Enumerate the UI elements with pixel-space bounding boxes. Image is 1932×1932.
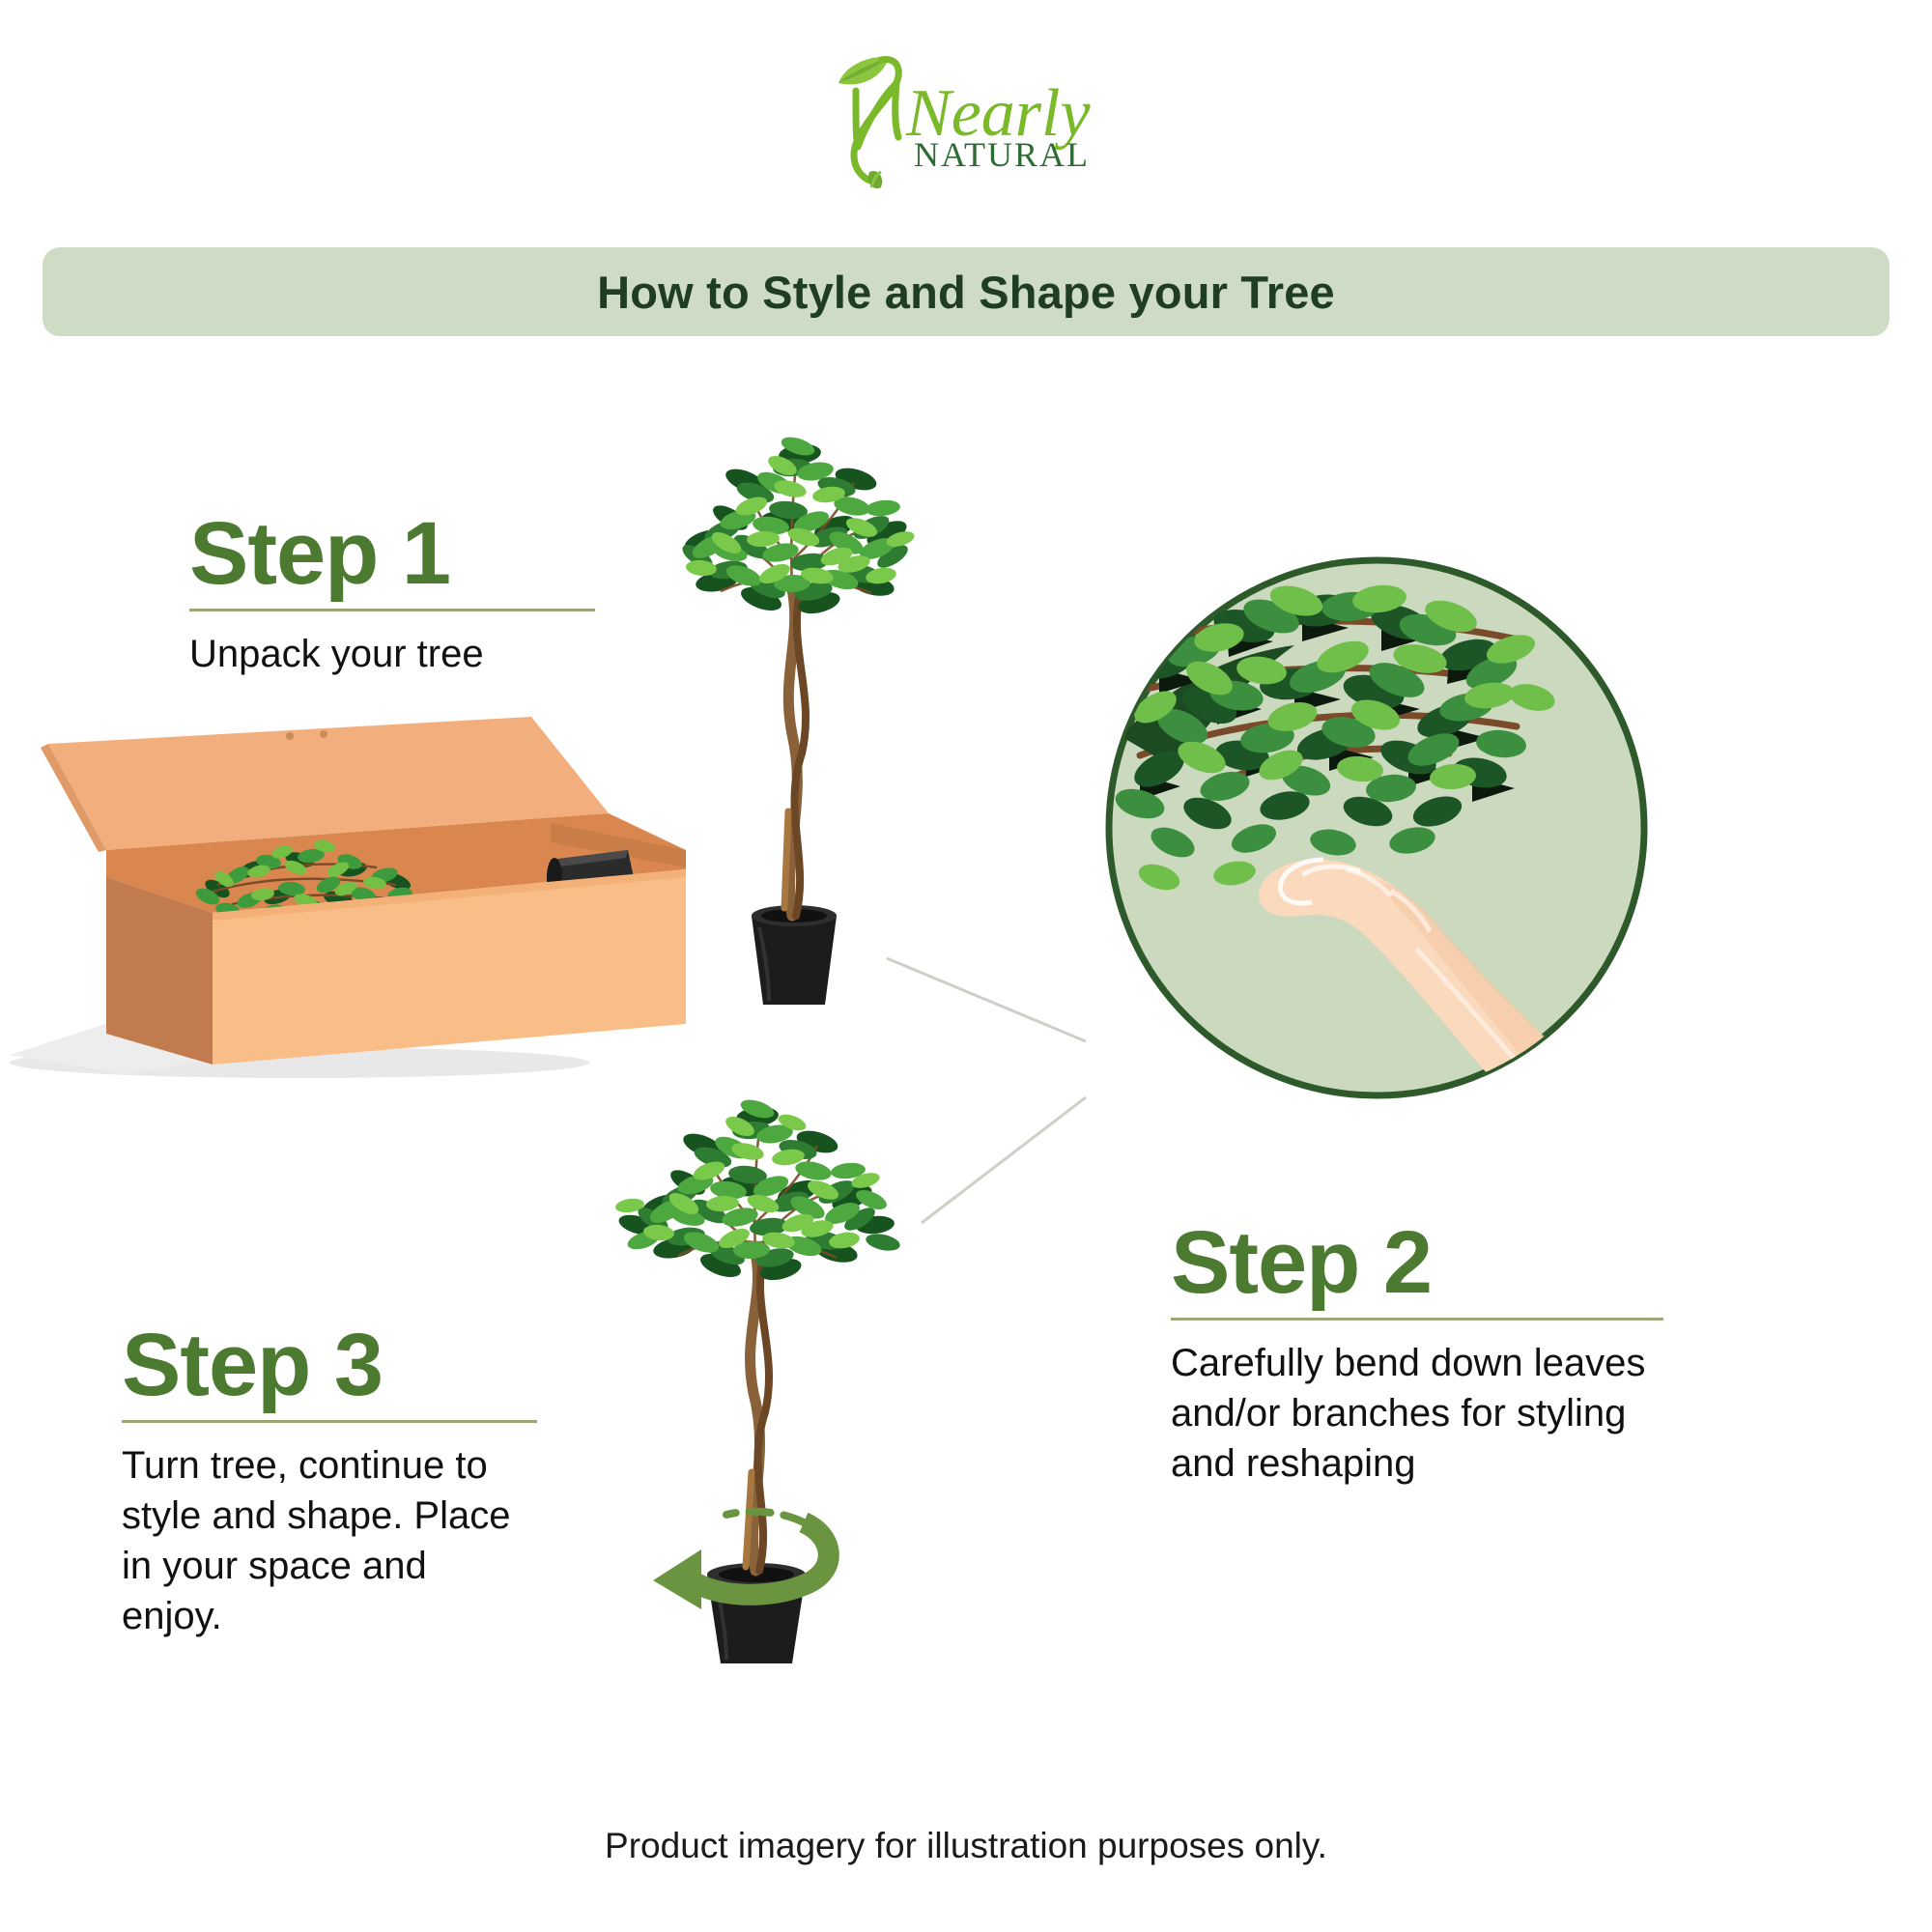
step-2-body: Carefully bend down leaves and/or branch… (1171, 1338, 1663, 1489)
logo-serif-word: NATURAL (914, 135, 1090, 174)
potted-topiary-tree-turn-icon (599, 1034, 908, 1671)
step-3-heading: Step 3 (122, 1321, 537, 1408)
page-title-banner: How to Style and Shape your Tree (43, 247, 1889, 336)
footer-disclaimer: Product imagery for illustration purpose… (0, 1826, 1932, 1866)
infographic-page: Nearly NATURAL How to Style and Shape yo… (0, 0, 1932, 1932)
step-3-body: Turn tree, continue to style and shape. … (122, 1440, 537, 1641)
step-3-tree-illustration (599, 1034, 908, 1671)
tree-trunk (746, 1254, 769, 1571)
step-connector-lines (850, 908, 1265, 1227)
tree-canopy (614, 1096, 901, 1284)
step-1-divider (189, 609, 595, 611)
tree-trunk (784, 589, 806, 916)
nearly-natural-logo-icon: Nearly NATURAL (821, 46, 1111, 191)
brand-logo: Nearly NATURAL (0, 46, 1932, 201)
box-lid-hole-2 (320, 730, 327, 738)
step-2-divider (1171, 1318, 1663, 1321)
tree-canopy (679, 434, 917, 617)
connector-line-bottom (922, 1097, 1086, 1223)
tree-pot (707, 1563, 806, 1663)
step-1-text-block: Step 1 Unpack your tree (189, 510, 595, 679)
step-3-text-block: Step 3 Turn tree, continue to style and … (122, 1321, 537, 1641)
step-2-text-block: Step 2 Carefully bend down leaves and/or… (1171, 1219, 1663, 1489)
open-shipping-box-illustration (10, 715, 744, 1082)
connector-line-top (887, 958, 1086, 1041)
rotation-arrow-icon (653, 1512, 829, 1609)
open-shipping-box-icon (10, 715, 744, 1082)
step-1-heading: Step 1 (189, 510, 595, 597)
step-3-divider (122, 1420, 537, 1423)
step-1-body: Unpack your tree (189, 629, 595, 679)
step-2-heading: Step 2 (1171, 1219, 1663, 1306)
connector-lines-icon (850, 908, 1265, 1227)
page-title: How to Style and Shape your Tree (597, 266, 1335, 319)
box-lid-hole-1 (286, 732, 294, 740)
